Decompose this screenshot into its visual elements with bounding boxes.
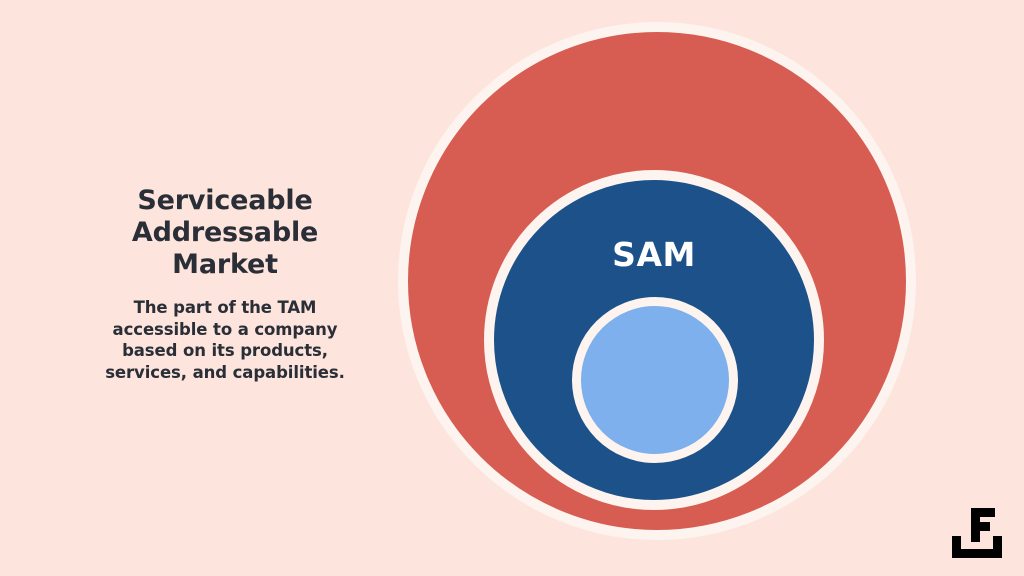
page-title: Serviceable Addressable Market xyxy=(75,185,375,281)
concentric-circle-diagram: SAM xyxy=(398,22,918,556)
f-bracket-logo xyxy=(948,506,1006,560)
f-bracket-logo-icon xyxy=(948,506,1006,560)
sam-label: SAM xyxy=(484,235,824,274)
inner-circle-som xyxy=(572,297,738,463)
text-panel: Serviceable Addressable Market The part … xyxy=(30,185,420,384)
slide-canvas: Serviceable Addressable Market The part … xyxy=(0,0,1024,576)
description-text: The part of the TAM accessible to a comp… xyxy=(94,297,356,385)
